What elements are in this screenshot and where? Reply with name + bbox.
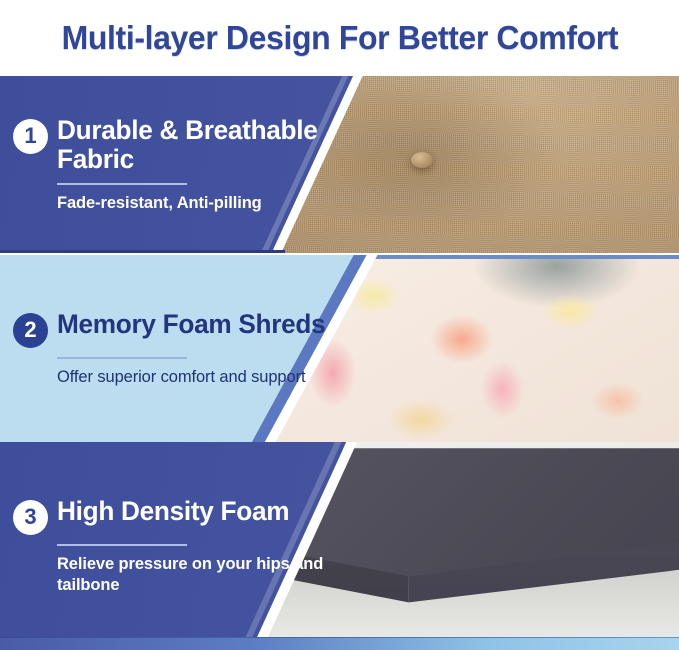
panel-3-divider [57, 544, 187, 546]
step-number-badge-3: 3 [13, 500, 48, 535]
panel-3-content: 3 High Density Foam Relieve pressure on … [13, 442, 343, 650]
page-title: Multi-layer Design For Better Comfort [61, 19, 618, 57]
feature-panel-3: 3 High Density Foam Relieve pressure on … [0, 442, 679, 650]
infographic-page: Multi-layer Design For Better Comfort 1 … [0, 0, 679, 650]
panel-1-head-row: 1 Durable & Breathable Fabric [13, 116, 343, 174]
panel-1-content: 1 Durable & Breathable Fabric Fade-resis… [13, 76, 343, 253]
panel-2-subtitle: Offer superior comfort and support [57, 366, 334, 387]
panel-1-divider [57, 183, 187, 185]
step-number-badge-2: 2 [13, 313, 48, 348]
feature-panel-2: 2 Memory Foam Shreds Offer superior comf… [0, 255, 679, 442]
title-bar: Multi-layer Design For Better Comfort [0, 0, 679, 76]
step-number-badge-1: 1 [13, 119, 48, 154]
panel-2-heading: Memory Foam Shreds [57, 310, 325, 339]
panel-1-heading: Durable & Breathable Fabric [57, 116, 334, 174]
panel-2-head-row: 2 Memory Foam Shreds [13, 310, 343, 348]
panel-3-head-row: 3 High Density Foam [13, 497, 343, 535]
panel-2-content: 2 Memory Foam Shreds Offer superior comf… [13, 255, 343, 442]
panel-1-subtitle: Fade-resistant, Anti-pilling [57, 192, 334, 213]
panel-2-divider [57, 357, 187, 359]
panel-3-subtitle: Relieve pressure on your hips and tailbo… [57, 553, 334, 596]
feature-panel-1: 1 Durable & Breathable Fabric Fade-resis… [0, 76, 679, 253]
panel-3-heading: High Density Foam [57, 497, 289, 526]
